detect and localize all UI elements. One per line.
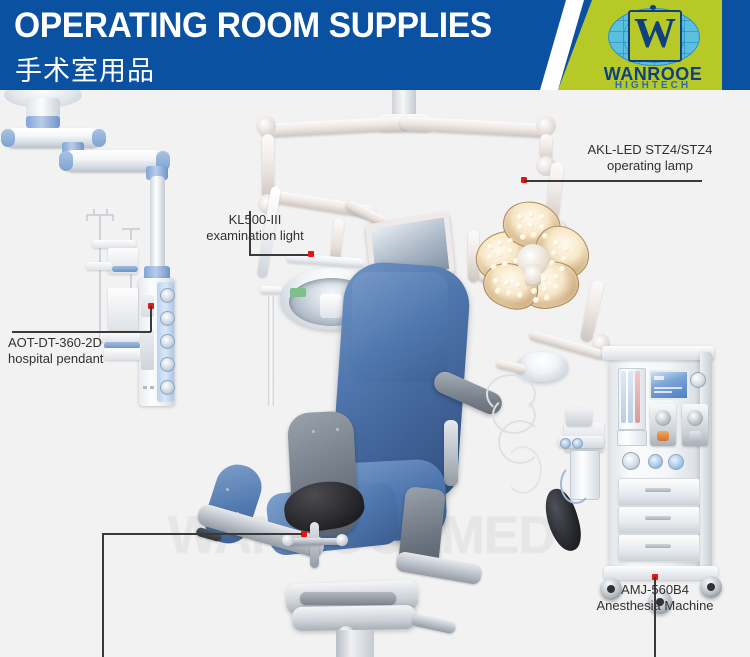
- vaporizer-right: [682, 404, 708, 446]
- vaporizer-left: [650, 404, 676, 446]
- brand-logo: W WANROOE HIGHTECH: [594, 6, 712, 86]
- callout-label-operating-lamp: AKL-LED STZ4/STZ4 operating lamp: [560, 142, 740, 174]
- callout-name-anesthesia: Anesthesia Machine: [566, 598, 744, 614]
- callout-model-pendant: AOT-DT-360-2D: [8, 335, 103, 351]
- logo-monogram: W: [628, 10, 682, 62]
- callout-leader-operating-lamp: [524, 180, 702, 182]
- callout-leader-table: [102, 533, 302, 535]
- callout-model-exam-light: KL500-III: [195, 212, 315, 228]
- logo-tagline-text: HIGHTECH: [594, 80, 712, 90]
- callout-model-operating-lamp: AKL-LED STZ4/STZ4: [560, 142, 740, 158]
- callout-label-exam-light: KL500-III examination light: [195, 212, 315, 244]
- callout-name-exam-light: examination light: [195, 228, 315, 244]
- product-banner: OPERATING ROOM SUPPLIES 手术室用品 W WANROOE …: [0, 0, 750, 657]
- callout-model-anesthesia: AMJ-560B4: [566, 582, 744, 598]
- led-lamp-head: [473, 200, 593, 320]
- callout-dot-exam-light-end: [308, 251, 314, 257]
- callout-name-pendant: hospital pendant: [8, 351, 103, 367]
- callout-leader-exam-light-2: [249, 254, 311, 256]
- callout-name-operating-lamp: operating lamp: [560, 158, 740, 174]
- page-title-chinese: 手术室用品: [15, 49, 155, 88]
- callout-leader-table-2: [102, 533, 104, 657]
- callout-label-pendant: AOT-DT-360-2D hospital pendant: [8, 335, 103, 367]
- banner-header: OPERATING ROOM SUPPLIES 手术室用品 W WANROOE …: [0, 0, 750, 90]
- callout-leader-pendant: [150, 306, 152, 332]
- callout-leader-pendant-2: [12, 331, 151, 333]
- callout-label-anesthesia: AMJ-560B4 Anesthesia Machine: [566, 582, 744, 614]
- anesthesia-display: [649, 370, 689, 400]
- page-title: OPERATING ROOM SUPPLIES: [14, 6, 492, 46]
- product-illustration-area: WANROOEMED: [0, 90, 750, 657]
